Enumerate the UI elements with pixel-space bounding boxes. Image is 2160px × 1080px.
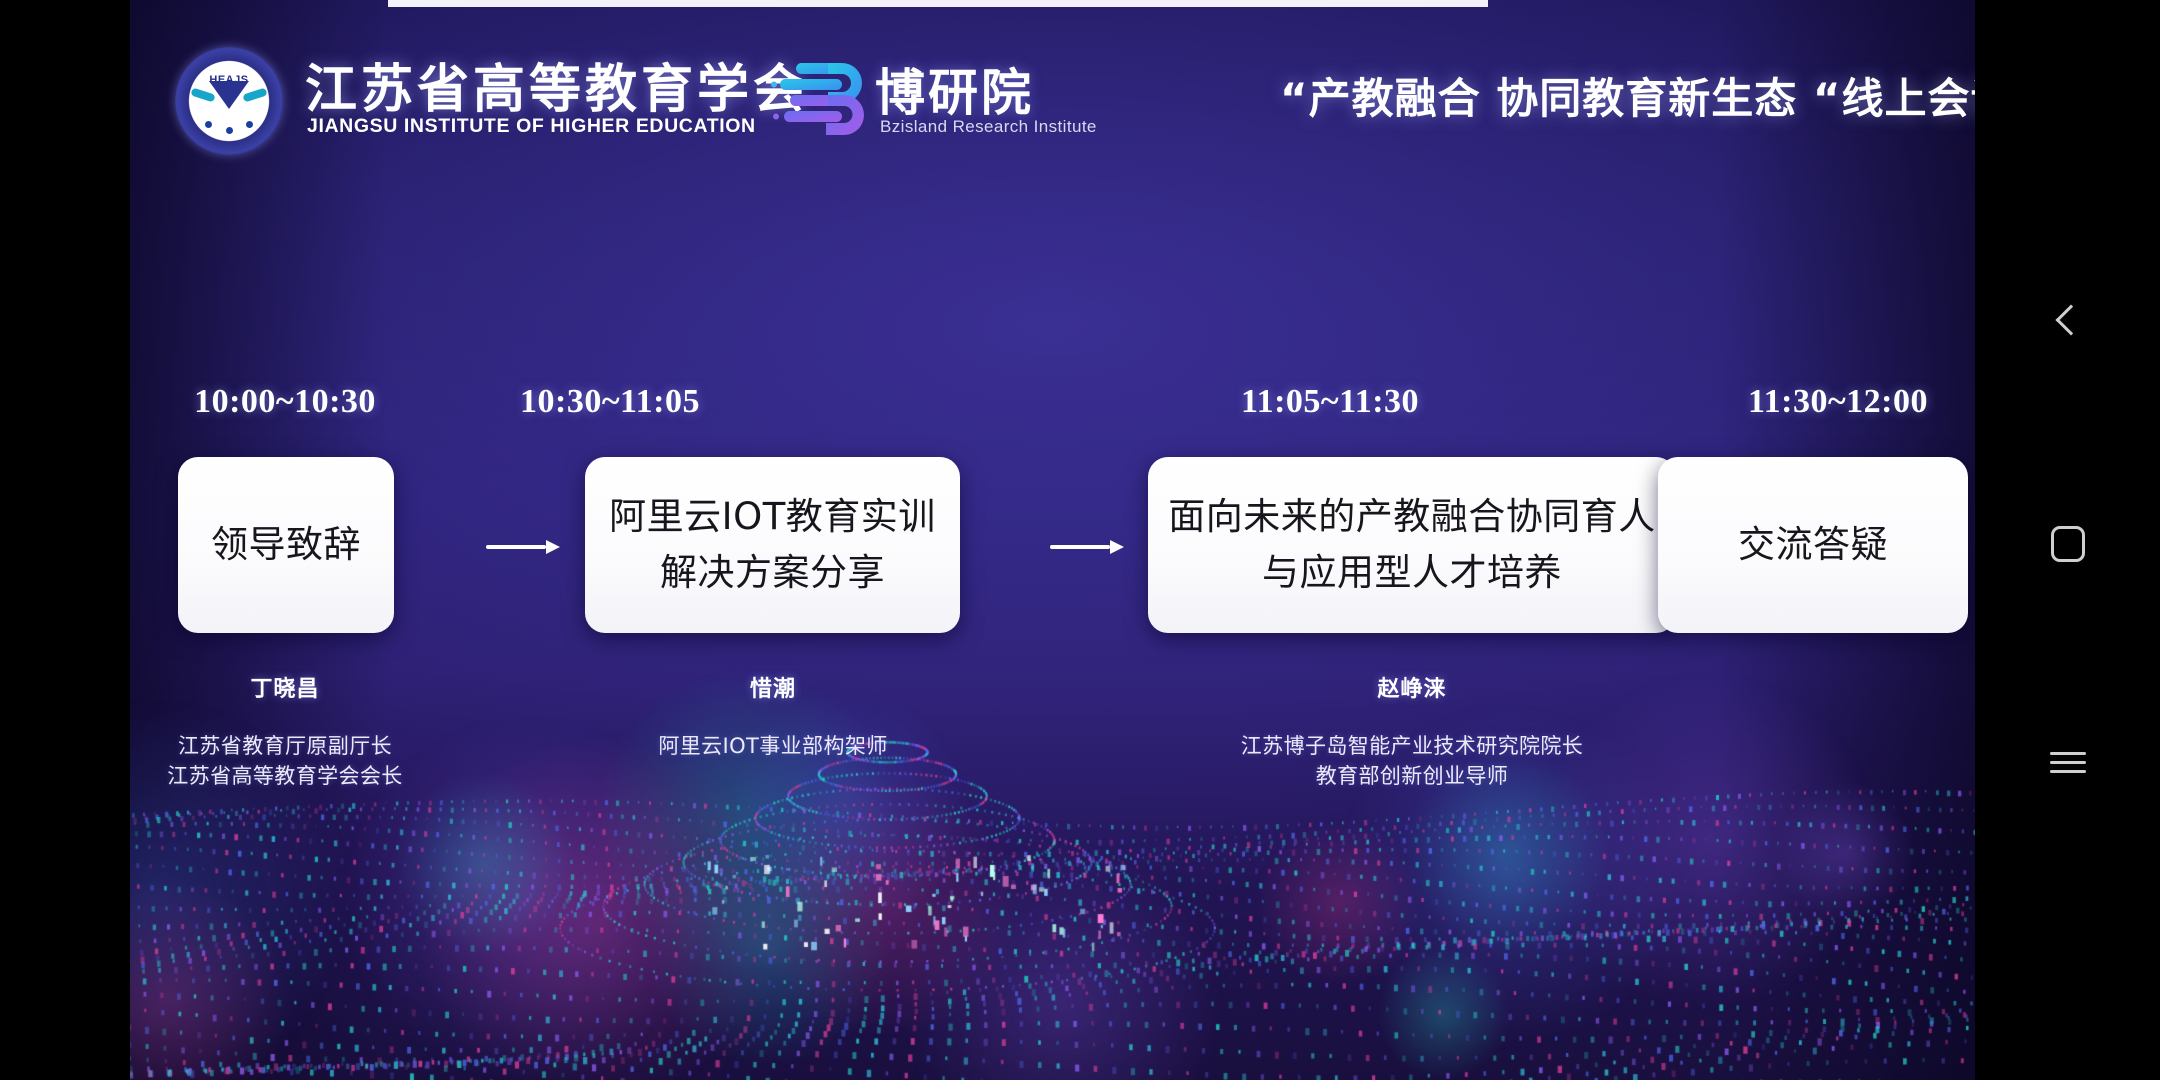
session-time-4: 11:30~12:00	[1708, 383, 1968, 421]
session-card-4[interactable]: 交流答疑	[1658, 457, 1968, 633]
organization-name-en: JIANGSU INSTITUTE OF HIGHER EDUCATION	[307, 115, 756, 138]
session-role-3-line-2: 教育部创新创业导师	[1162, 761, 1662, 791]
session-role-2: 阿里云IOT事业部构架师	[593, 731, 953, 761]
institute-name-cn: 博研院	[875, 53, 1034, 125]
session-role-3: 江苏博子岛智能产业技术研究院院长 教育部创新创业导师	[1162, 731, 1662, 792]
meeting-title: “产教融合 协同教育新生态 “线上会议	[1280, 65, 1960, 126]
session-role-1-line-2: 江苏省高等教育学会会长	[130, 761, 465, 791]
session-role-1: 江苏省教育厅原副厅长 江苏省高等教育学会会长	[130, 731, 465, 792]
session-speaker-2: 惜潮	[643, 671, 903, 703]
back-icon[interactable]	[2036, 288, 2100, 352]
bzisland-b-logo-icon	[770, 55, 875, 140]
agenda-flow: 10:00~10:30 领导致辞 丁晓昌 江苏省教育厅原副厅长 江苏省高等教育学…	[130, 0, 1975, 1080]
session-card-3-line-2: 与应用型人才培养	[1262, 545, 1562, 601]
session-card-1[interactable]: 领导致辞	[178, 457, 394, 633]
left-letterbox	[0, 0, 130, 1080]
presentation-slide: HEAJS 江苏省高等教育学会 JIANGSU INSTITUTE OF HIG…	[130, 0, 1975, 1080]
session-card-3-line-1: 面向未来的产教融合协同育人	[1168, 489, 1656, 545]
session-card-2-line-1: 阿里云IOT教育实训	[609, 489, 936, 545]
session-card-3[interactable]: 面向未来的产教融合协同育人 与应用型人才培养	[1148, 457, 1676, 633]
session-time-3: 11:05~11:30	[1200, 383, 1460, 421]
session-card-2-line-2: 解决方案分享	[660, 545, 885, 601]
jiangsu-institute-emblem-icon: HEAJS	[175, 47, 283, 155]
session-speaker-1: 丁晓昌	[165, 671, 405, 703]
session-card-1-line-1: 领导致辞	[211, 517, 361, 573]
session-time-1: 10:00~10:30	[165, 383, 405, 421]
slide-header: HEAJS 江苏省高等教育学会 JIANGSU INSTITUTE OF HIG…	[130, 45, 1975, 155]
flow-arrow-1	[486, 540, 560, 554]
session-card-4-line-1: 交流答疑	[1738, 517, 1888, 573]
session-speaker-3: 赵峥涞	[1282, 671, 1542, 703]
android-navigation-bar	[1975, 0, 2160, 1080]
organization-name-cn: 江苏省高等教育学会	[305, 47, 809, 122]
top-white-strip	[388, 0, 1488, 7]
session-role-1-line-1: 江苏省教育厅原副厅长	[130, 731, 465, 761]
screen-root: HEAJS 江苏省高等教育学会 JIANGSU INSTITUTE OF HIG…	[0, 0, 2160, 1080]
session-time-2: 10:30~11:05	[480, 383, 740, 421]
flow-arrow-2	[1050, 540, 1124, 554]
session-role-3-line-1: 江苏博子岛智能产业技术研究院院长	[1162, 731, 1662, 761]
institute-name-en: Bzisland Research Institute	[880, 117, 1097, 137]
session-card-2[interactable]: 阿里云IOT教育实训 解决方案分享	[585, 457, 960, 633]
recents-icon[interactable]	[2036, 730, 2100, 794]
home-icon[interactable]	[2036, 512, 2100, 576]
session-role-2-line-1: 阿里云IOT事业部构架师	[593, 731, 953, 761]
